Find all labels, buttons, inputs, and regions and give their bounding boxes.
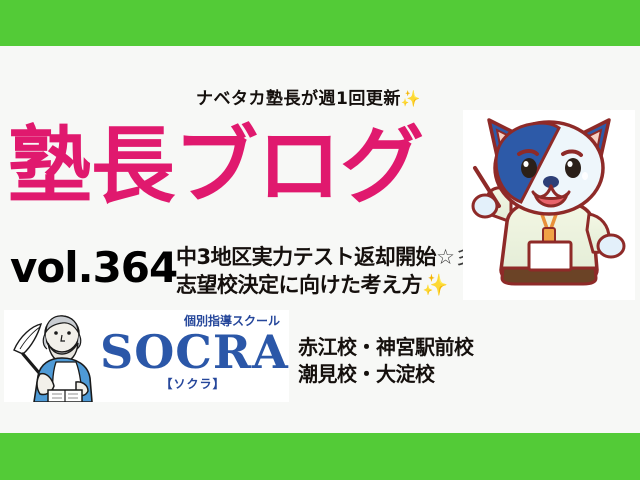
socra-text-block: 個別指導スクール SOCRA 【ソクラ】 <box>100 314 286 391</box>
school-names: 赤江校・神宮駅前校 潮見校・大淀校 <box>298 334 528 388</box>
school-line-1: 赤江校・神宮駅前校 <box>298 334 528 361</box>
socra-logo: 個別指導スクール SOCRA 【ソクラ】 <box>4 310 289 402</box>
socrates-illustration-icon <box>10 312 96 402</box>
subtitle-line-1-text: 中3地区実力テスト返却開始 <box>176 245 436 269</box>
socra-kana-label: 【ソクラ】 <box>100 377 286 391</box>
subtitle-line-1: 中3地区実力テスト返却開始☆彡 <box>176 243 461 271</box>
mascot-panel <box>463 110 635 300</box>
volume-label: vol.364 <box>10 247 177 289</box>
bottom-green-bar <box>0 433 640 480</box>
school-line-2: 潮見校・大淀校 <box>298 361 528 388</box>
subtitle-block: 中3地区実力テスト返却開始☆彡 志望校決定に向けた考え方✨ <box>176 243 461 299</box>
dog-mascot-icon <box>463 110 635 300</box>
page-title: 塾長ブログ <box>8 124 423 208</box>
subtitle-line-2: 志望校決定に向けた考え方✨ <box>176 271 461 299</box>
sparkle-icon: ✨ <box>401 89 421 108</box>
sparkle-icon: ✨ <box>422 273 448 297</box>
subtitle-line-2-text: 志望校決定に向けた考え方 <box>176 273 422 297</box>
blog-banner-canvas: ナベタカ塾長が週1回更新✨ 塾長ブログ vol.364 中3地区実力テスト返却開… <box>0 0 640 480</box>
tagline: ナベタカ塾長が週1回更新✨ <box>196 84 446 109</box>
socra-brand: SOCRA <box>100 328 286 376</box>
top-green-bar <box>0 0 640 46</box>
tagline-text: ナベタカ塾長が週1回更新 <box>196 89 401 109</box>
